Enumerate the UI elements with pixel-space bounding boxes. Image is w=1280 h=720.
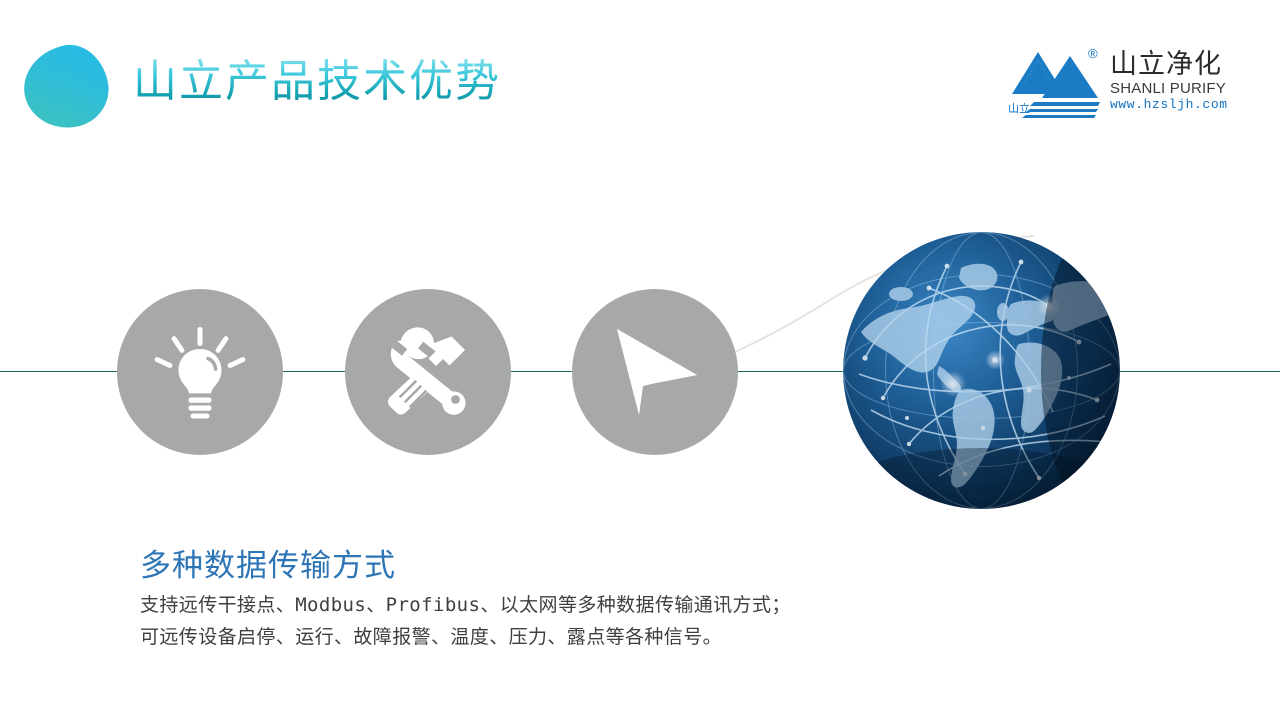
logo-mark-caption: 山立 bbox=[1008, 102, 1030, 115]
timeline-node-transmission[interactable] bbox=[572, 289, 738, 455]
caption-body-line-2: 可远传设备启停、运行、故障报警、温度、压力、露点等各种信号。 bbox=[140, 621, 791, 653]
logo-text-block: 山立净化 SHANLI PURIFY www.hzsljh.com bbox=[1110, 50, 1238, 113]
logo-website-url: www.hzsljh.com bbox=[1110, 97, 1238, 113]
header-blob-decoration bbox=[16, 38, 115, 136]
globe-network-image bbox=[843, 232, 1120, 509]
tools-icon bbox=[380, 324, 476, 420]
slide-canvas: 山立产品技术优势 ® 山立 山立净化 SHANLI PURIFY www.hzs… bbox=[0, 0, 1280, 720]
timeline-node-maintenance[interactable] bbox=[345, 289, 511, 455]
company-logo: ® 山立 山立净化 SHANLI PURIFY www.hzsljh.com bbox=[1008, 46, 1234, 122]
cursor-arrow-icon bbox=[609, 325, 701, 419]
caption-body: 支持远传干接点、Modbus、Profibus、以太网等多种数据传输通讯方式； … bbox=[140, 589, 791, 653]
logo-company-en: SHANLI PURIFY bbox=[1110, 80, 1238, 97]
logo-company-cn: 山立净化 bbox=[1110, 50, 1238, 80]
caption-title: 多种数据传输方式 bbox=[140, 540, 396, 585]
caption-body-line-1: 支持远传干接点、Modbus、Profibus、以太网等多种数据传输通讯方式； bbox=[140, 589, 791, 621]
globe-illustration bbox=[843, 232, 1120, 509]
registered-trademark-icon: ® bbox=[1088, 46, 1098, 61]
timeline-node-innovation[interactable] bbox=[117, 289, 283, 455]
lightbulb-icon bbox=[154, 325, 246, 419]
page-title: 山立产品技术优势 bbox=[133, 58, 501, 106]
